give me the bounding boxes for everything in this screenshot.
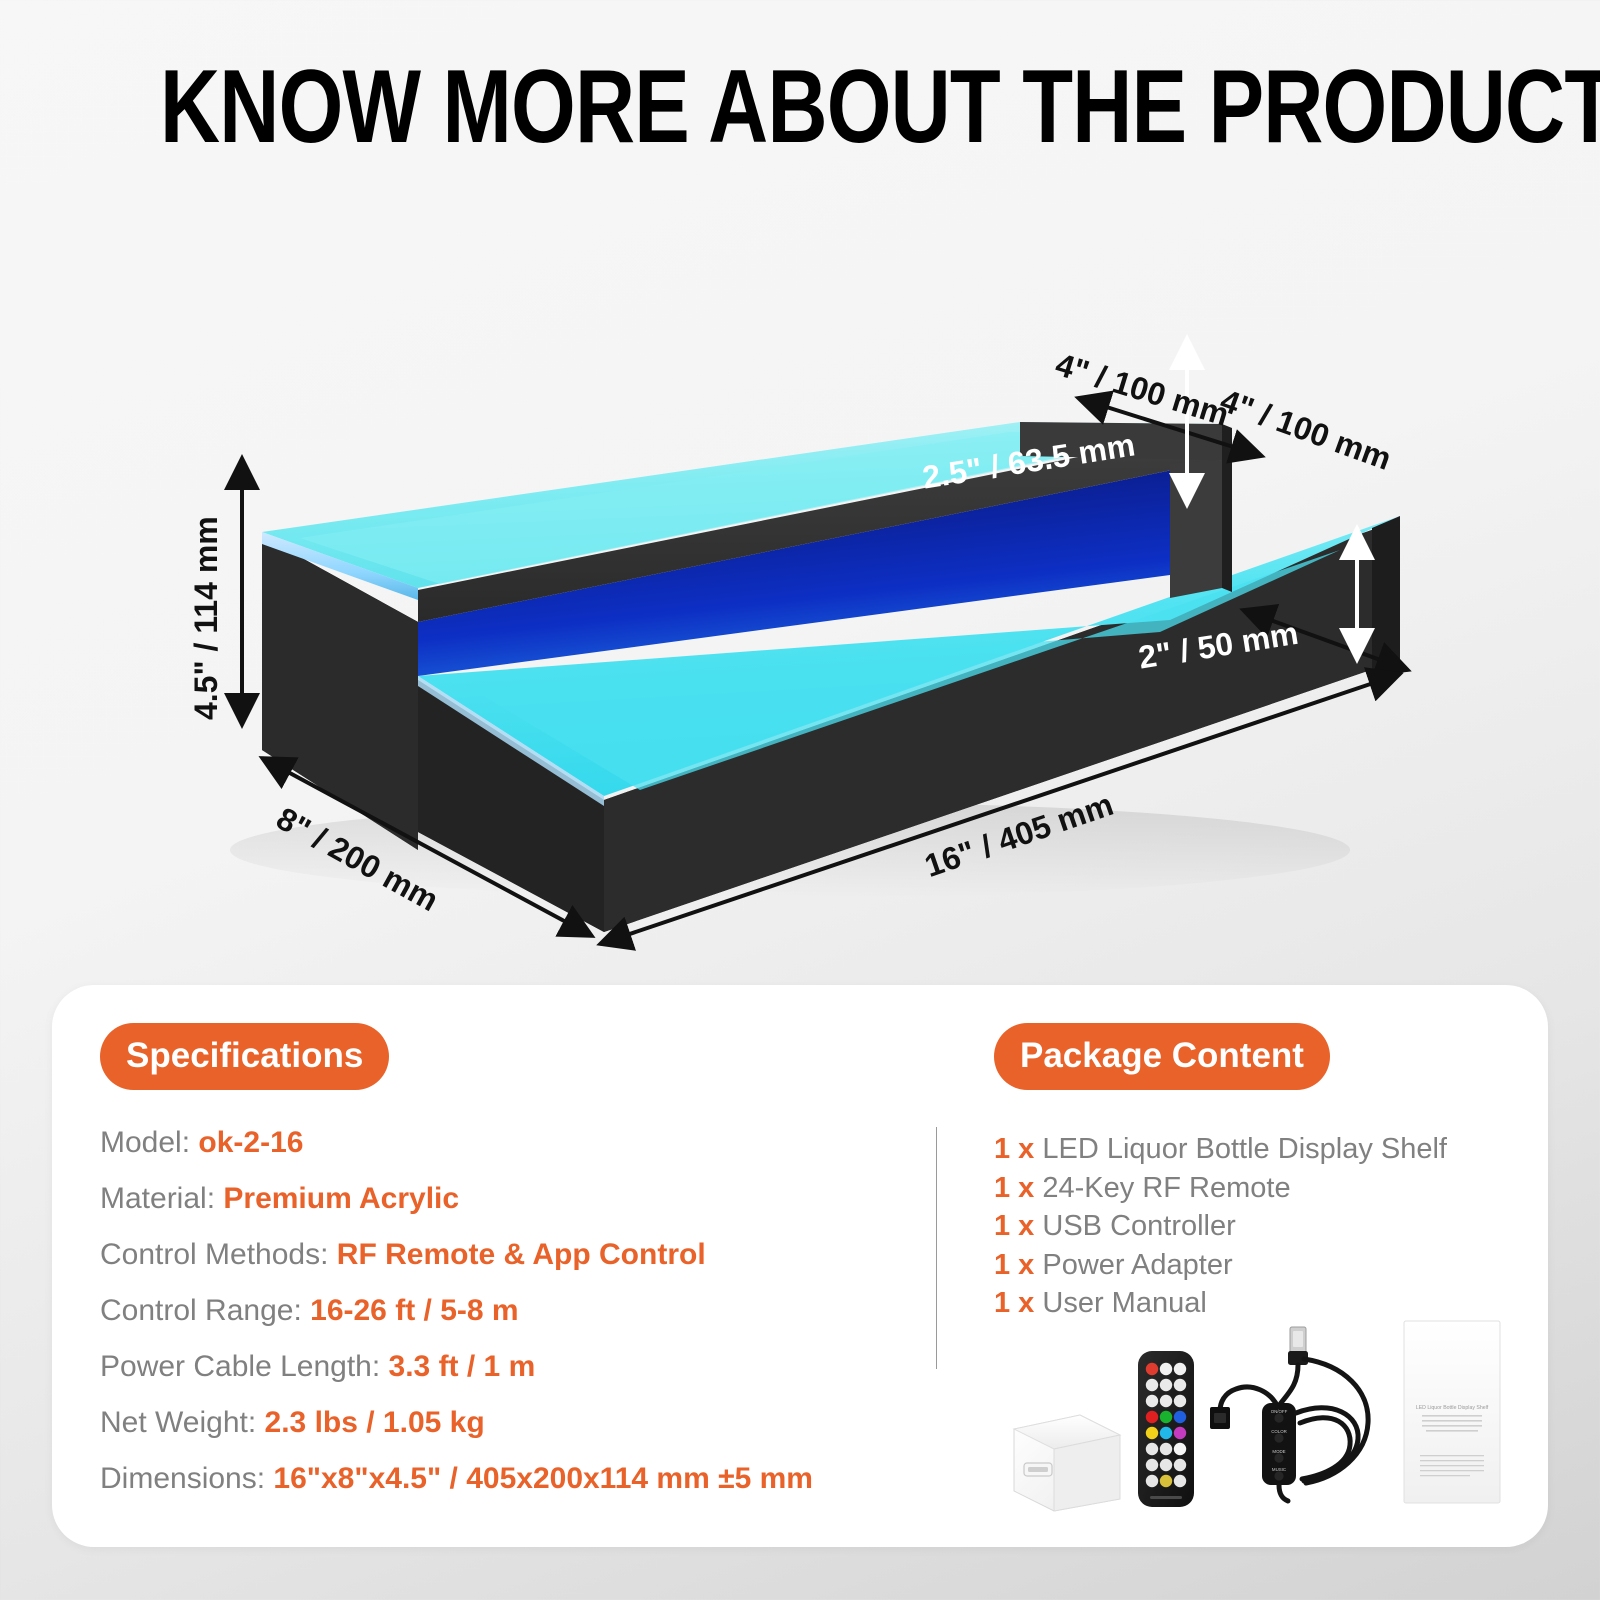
package-qty-power-adapter: 1 x — [994, 1249, 1034, 1281]
package-content-heading: Package Content — [994, 1023, 1330, 1090]
product-diagram: 4" / 100 mm 4" / 100 mm 2.5" / 63.5 mm 2… — [0, 160, 1600, 980]
column-divider — [936, 1127, 937, 1369]
accessories-svg: ON/OFF COLOR MODE MUSIC LED Liquor Bottl… — [952, 1303, 1512, 1513]
package-qty-shelf: 1 x — [994, 1133, 1034, 1165]
spec-value-material: Premium Acrylic — [223, 1182, 459, 1215]
specifications-list: Model: ok-2-16 Material: Premium Acrylic… — [100, 1128, 920, 1494]
spec-row-power-cable-length: Power Cable Length: 3.3 ft / 1 m — [100, 1352, 920, 1382]
spec-key-model: Model: — [100, 1126, 190, 1159]
power-adapter-icon — [1014, 1415, 1120, 1511]
package-name-remote: 24-Key RF Remote — [1042, 1172, 1290, 1204]
spec-key-net-weight: Net Weight: — [100, 1406, 256, 1439]
spec-key-dimensions: Dimensions: — [100, 1462, 265, 1495]
spec-value-net-weight: 2.3 lbs / 1.05 kg — [265, 1406, 485, 1439]
spec-value-dimensions: 16"x8"x4.5" / 405x200x114 mm ±5 mm — [273, 1462, 813, 1495]
top-shelf-right-edge — [1222, 424, 1232, 592]
package-qty-remote: 1 x — [994, 1172, 1034, 1204]
accessory-images: ON/OFF COLOR MODE MUSIC LED Liquor Bottl… — [952, 1303, 1512, 1513]
base-right-end — [1372, 516, 1400, 672]
spec-row-control-range: Control Range: 16-26 ft / 5-8 m — [100, 1296, 920, 1326]
user-manual-icon: LED Liquor Bottle Display Shelf — [1404, 1321, 1500, 1503]
package-item-shelf: 1 x LED Liquor Bottle Display Shelf — [994, 1130, 1512, 1169]
info-card: Specifications Model: ok-2-16 Material: … — [52, 985, 1548, 1547]
package-name-shelf: LED Liquor Bottle Display Shelf — [1042, 1133, 1447, 1165]
upper-right-panel — [1170, 460, 1222, 598]
rf-remote-icon — [1138, 1351, 1194, 1507]
spec-value-control-range: 16-26 ft / 5-8 m — [310, 1294, 518, 1327]
package-content-list: 1 x LED Liquor Bottle Display Shelf 1 x … — [994, 1130, 1512, 1323]
package-name-power-adapter: Power Adapter — [1042, 1249, 1232, 1281]
spec-row-material: Material: Premium Acrylic — [100, 1184, 920, 1214]
page-title: KNOW MORE ABOUT THE PRODUCT — [160, 48, 1440, 167]
manual-title-text: LED Liquor Bottle Display Shelf — [1416, 1405, 1489, 1411]
spec-value-power-cable-length: 3.3 ft / 1 m — [389, 1350, 536, 1383]
product-illustration-svg — [0, 160, 1600, 980]
spec-key-material: Material: — [100, 1182, 215, 1215]
spec-key-power-cable-length: Power Cable Length: — [100, 1350, 380, 1383]
specifications-heading: Specifications — [100, 1023, 389, 1090]
spec-row-control-methods: Control Methods: RF Remote & App Control — [100, 1240, 920, 1270]
package-name-usb-controller: USB Controller — [1042, 1210, 1235, 1242]
spec-key-control-methods: Control Methods: — [100, 1238, 328, 1271]
package-item-usb-controller: 1 x USB Controller — [994, 1207, 1512, 1246]
dim-label-height: 4.5" / 114 mm — [188, 516, 225, 720]
usb-button-label-color: COLOR — [1271, 1429, 1287, 1434]
spec-value-control-methods: RF Remote & App Control — [337, 1238, 706, 1271]
usb-button-label-onoff: ON/OFF — [1271, 1409, 1288, 1414]
spec-row-model: Model: ok-2-16 — [100, 1128, 920, 1158]
usb-button-label-music: MUSIC — [1272, 1467, 1286, 1472]
package-qty-usb-controller: 1 x — [994, 1210, 1034, 1242]
package-content-section: Package Content 1 x LED Liquor Bottle Di… — [952, 1023, 1512, 1323]
specifications-section: Specifications Model: ok-2-16 Material: … — [100, 1023, 920, 1520]
spec-row-net-weight: Net Weight: 2.3 lbs / 1.05 kg — [100, 1408, 920, 1438]
usb-controller-icon: ON/OFF COLOR MODE MUSIC — [1210, 1327, 1368, 1501]
spec-row-dimensions: Dimensions: 16"x8"x4.5" / 405x200x114 mm… — [100, 1464, 920, 1494]
usb-button-label-mode: MODE — [1272, 1449, 1285, 1454]
package-item-remote: 1 x 24-Key RF Remote — [994, 1169, 1512, 1208]
package-item-power-adapter: 1 x Power Adapter — [994, 1246, 1512, 1285]
spec-key-control-range: Control Range: — [100, 1294, 302, 1327]
spec-value-model: ok-2-16 — [198, 1126, 303, 1159]
